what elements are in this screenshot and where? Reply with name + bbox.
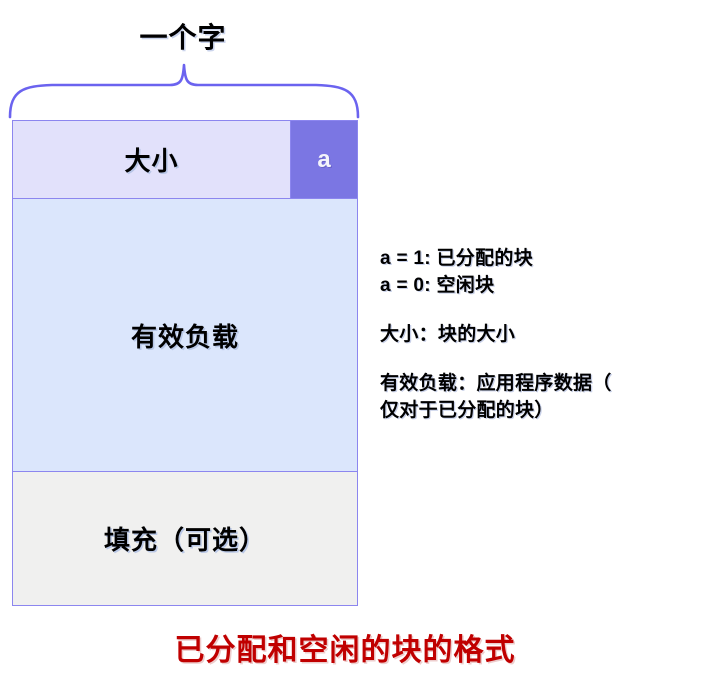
annotation-flag-legend: a = 1: 已分配的块 a = 0: 空闲块 — [380, 246, 698, 300]
block-row-padding-label: 填充（可选） — [104, 520, 266, 557]
block-layout-diagram: 大小 a 有效负载 填充（可选） — [12, 120, 358, 606]
block-cell-size: 大小 — [12, 120, 291, 199]
block-row-header: 大小 a — [12, 120, 358, 199]
block-cell-alloc-flag: a — [291, 120, 358, 199]
annotation-line: a = 1: 已分配的块 — [380, 246, 698, 273]
word-width-label: 一个字 — [0, 16, 366, 56]
word-width-brace-icon — [0, 60, 380, 122]
annotation-line: a = 0: 空闲块 — [380, 273, 698, 300]
block-row-padding: 填充（可选） — [12, 471, 358, 606]
annotation-line: 有效负载：应用程序数据（ — [380, 371, 698, 398]
figure-caption: 已分配和空闲的块的格式 — [0, 625, 690, 669]
annotation-line: 仅对于已分配的块） — [380, 398, 698, 425]
block-cell-alloc-flag-label: a — [317, 146, 330, 174]
diagram-canvas: 一个字 大小 a 有效负载 填充（可选） a = 1: 已分配的块 a = 0:… — [0, 0, 704, 683]
block-row-payload-label: 有效负载 — [131, 317, 239, 354]
annotation-payload-legend: 有效负载：应用程序数据（ 仅对于已分配的块） — [380, 371, 698, 425]
annotation-line: 大小：块的大小 — [380, 322, 698, 349]
annotation-list: a = 1: 已分配的块 a = 0: 空闲块 大小：块的大小 有效负载：应用程… — [380, 246, 698, 425]
block-row-payload: 有效负载 — [12, 198, 358, 472]
block-cell-size-label: 大小 — [124, 141, 178, 178]
annotation-size-legend: 大小：块的大小 — [380, 322, 698, 349]
